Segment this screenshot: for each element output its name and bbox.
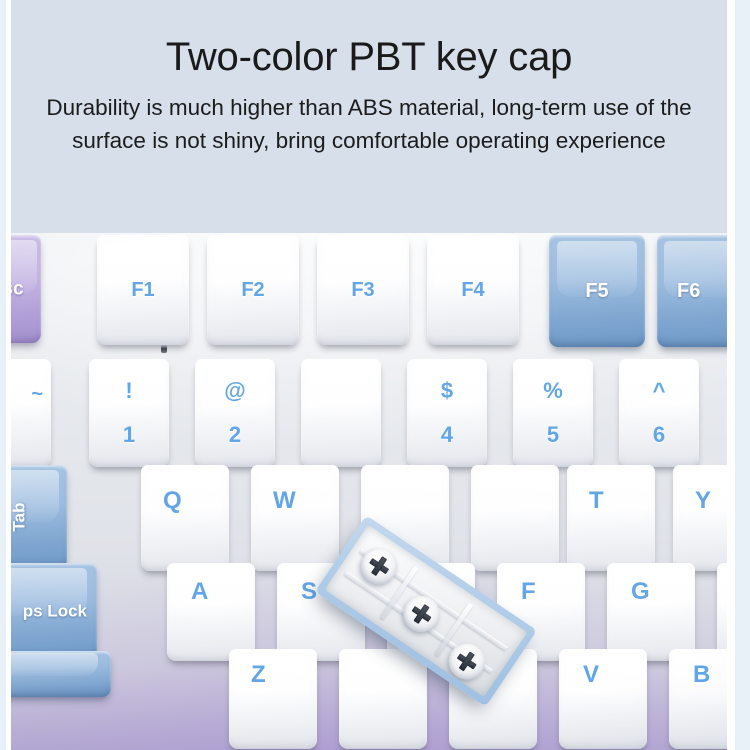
key-2-upper: @ [195, 380, 275, 402]
key-h[interactable]: H [717, 563, 727, 661]
key-4-lower: 4 [407, 424, 487, 446]
key-g[interactable]: G [607, 563, 695, 661]
key-2[interactable]: @ 2 [195, 359, 275, 467]
key-v[interactable]: V [559, 649, 647, 749]
key-tab-label: Tab [11, 503, 28, 532]
keycap-highlight [614, 568, 688, 617]
keycap-highlight [504, 568, 578, 617]
page-root: Two-color PBT key cap Durability is much… [0, 0, 750, 750]
subtitle-line-1: Durability is much higher than ABS mater… [19, 92, 719, 125]
key-q[interactable]: Q [141, 465, 229, 571]
key-v-label: V [583, 663, 599, 687]
key-3[interactable] [301, 359, 381, 467]
key-z-label: Z [251, 663, 266, 687]
key-f6[interactable]: F6 [657, 235, 727, 347]
key-f1-label: F1 [97, 280, 189, 300]
key-backtick-upper: ~ [31, 384, 43, 404]
key-4-upper: $ [407, 380, 487, 402]
subtitle-line-2: surface is not shiny, bring comfortable … [19, 125, 719, 158]
key-6-lower: 6 [619, 424, 699, 446]
key-6[interactable]: ^ 6 [619, 359, 699, 467]
key-1-upper: ! [89, 380, 169, 402]
key-caps-lock-label: ps Lock [23, 603, 87, 620]
header-banner: Two-color PBT key cap Durability is much… [11, 0, 727, 233]
key-left-shift[interactable] [11, 651, 111, 697]
key-y-label: Y [695, 489, 711, 513]
right-rail [735, 0, 750, 750]
keycap-highlight [566, 654, 640, 704]
key-x[interactable] [339, 649, 427, 749]
key-4[interactable]: $ 4 [407, 359, 487, 467]
keycap-highlight [236, 654, 310, 704]
key-f6-label: F6 [677, 281, 700, 301]
key-backtick[interactable]: ~ [11, 359, 51, 467]
key-f5[interactable]: F5 [549, 235, 645, 347]
key-g-label: G [631, 580, 650, 604]
keycap-highlight [307, 364, 374, 418]
key-escape-label: sc [11, 280, 41, 299]
key-z[interactable]: Z [229, 649, 317, 749]
key-6-upper: ^ [619, 380, 699, 402]
keycap-highlight [368, 470, 442, 523]
key-f5-label: F5 [549, 281, 645, 301]
key-w-label: W [273, 489, 296, 513]
key-1[interactable]: ! 1 [89, 359, 169, 467]
key-t[interactable]: T [567, 465, 655, 571]
keycap-highlight [174, 568, 248, 617]
keycap-highlight [11, 653, 98, 676]
key-1-lower: 1 [89, 424, 169, 446]
keycap-highlight [721, 568, 727, 617]
key-q-label: Q [163, 489, 182, 513]
key-escape[interactable]: sc [11, 235, 41, 343]
keycap-highlight [574, 470, 648, 523]
page-subtitle: Durability is much higher than ABS mater… [19, 92, 719, 157]
right-rail-gap [727, 0, 735, 750]
key-f2-label: F2 [207, 280, 299, 300]
key-f-label: F [521, 580, 536, 604]
key-f2[interactable]: F2 [207, 235, 299, 345]
key-5-lower: 5 [513, 424, 593, 446]
key-r[interactable] [471, 465, 559, 571]
key-5[interactable]: % 5 [513, 359, 593, 467]
key-y[interactable]: Y [673, 465, 727, 571]
keycap-highlight [346, 654, 420, 704]
mx-stem-icon [397, 589, 447, 639]
key-tab[interactable]: Tab [11, 465, 67, 569]
key-caps-lock[interactable]: ps Lock [11, 563, 97, 659]
key-f3[interactable]: F3 [317, 235, 409, 345]
key-a[interactable]: A [167, 563, 255, 661]
page-title: Two-color PBT key cap [166, 34, 572, 80]
key-2-lower: 2 [195, 424, 275, 446]
key-f4[interactable]: F4 [427, 235, 519, 345]
keycap-highlight [478, 470, 552, 523]
cross-stem-icon [397, 589, 447, 639]
key-t-label: T [589, 489, 604, 513]
key-f1[interactable]: F1 [97, 235, 189, 345]
key-a-label: A [191, 580, 208, 604]
product-photo: sc F1 F2 F3 F4 F5 [11, 233, 727, 750]
key-5-upper: % [513, 380, 593, 402]
key-f4-label: F4 [427, 280, 519, 300]
keycap-highlight [148, 470, 222, 523]
key-b[interactable]: B [669, 649, 727, 749]
key-seam [161, 345, 167, 353]
key-s-label: S [301, 580, 317, 604]
key-b-label: B [693, 663, 710, 687]
key-w[interactable]: W [251, 465, 339, 571]
key-f3-label: F3 [317, 280, 409, 300]
